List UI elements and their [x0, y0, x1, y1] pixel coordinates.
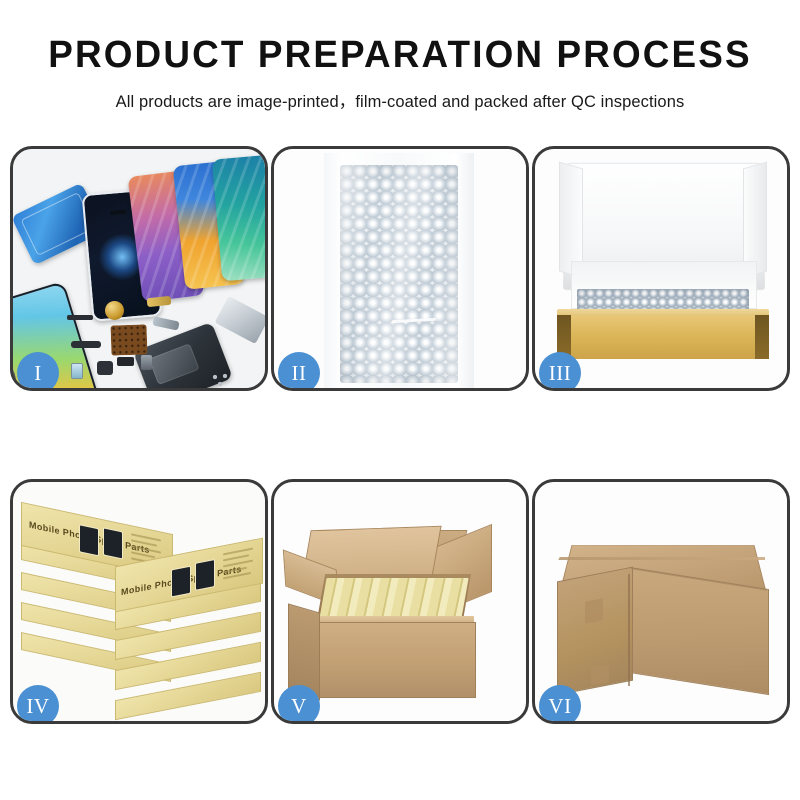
kraft-box-front	[557, 315, 769, 359]
box-screen-graphic-1b	[103, 527, 123, 559]
step-4-image: Mobile Phone Spare Parts Mobile Phone Sp…	[13, 482, 265, 721]
step-1-image	[13, 149, 265, 388]
sensor-part	[71, 363, 83, 379]
step-badge-6: VI	[539, 685, 581, 724]
step-2-image	[274, 149, 526, 388]
speaker-coil-part	[105, 301, 124, 320]
process-step-4: Mobile Phone Spare Parts Mobile Phone Sp…	[10, 479, 268, 724]
sealed-carton-front-edge	[628, 574, 630, 686]
sealed-carton-tape-patch-bottom	[591, 664, 609, 685]
box-screen-graphic-1a	[79, 524, 99, 556]
ic-chip-part	[117, 357, 134, 366]
step-5-image	[274, 482, 526, 721]
process-step-6: VI	[532, 479, 790, 724]
step-badge-3: III	[539, 352, 581, 391]
screws-part	[211, 373, 233, 387]
product-preparation-infographic: PRODUCT PREPARATION PROCESS All products…	[0, 0, 800, 800]
chip-array-part	[110, 324, 147, 355]
process-step-grid: I II	[10, 146, 790, 724]
header: PRODUCT PREPARATION PROCESS All products…	[0, 0, 800, 112]
process-step-3: III	[532, 146, 790, 391]
step-badge-4: IV	[17, 685, 59, 724]
step-badge-2: II	[278, 352, 320, 391]
page-title: PRODUCT PREPARATION PROCESS	[12, 36, 788, 74]
step-badge-5: V	[278, 685, 320, 724]
retail-box-stack: Mobile Phone Spare Parts Mobile Phone Sp…	[19, 500, 263, 716]
camera-module-part	[141, 355, 152, 370]
bubble-wrap-gloss	[340, 165, 458, 383]
flex-cable-part-2	[152, 316, 179, 330]
process-step-5: V	[271, 479, 529, 724]
flex-cable-part-1	[71, 341, 101, 348]
phone-teal	[212, 155, 265, 282]
kraft-box-corner-right	[755, 315, 769, 359]
flex-cable-part-3	[147, 296, 172, 307]
sealed-carton-tape-patch-top	[585, 598, 603, 623]
step-badge-1: I	[17, 352, 59, 391]
carton-front-face	[314, 622, 476, 698]
process-step-1: I	[10, 146, 268, 391]
box-screen-graphic-2b	[195, 559, 215, 591]
step-3-image	[535, 149, 787, 388]
sealed-carton-tape-seam	[558, 557, 765, 560]
step-6-image	[535, 482, 787, 721]
vibrator-part	[97, 361, 113, 375]
process-step-2: II	[271, 146, 529, 391]
battery-connector-part	[67, 315, 93, 320]
page-subtitle: All products are image-printed，film-coat…	[0, 88, 800, 112]
repair-tool-part	[215, 296, 265, 344]
box-screen-graphic-2a	[171, 566, 191, 598]
